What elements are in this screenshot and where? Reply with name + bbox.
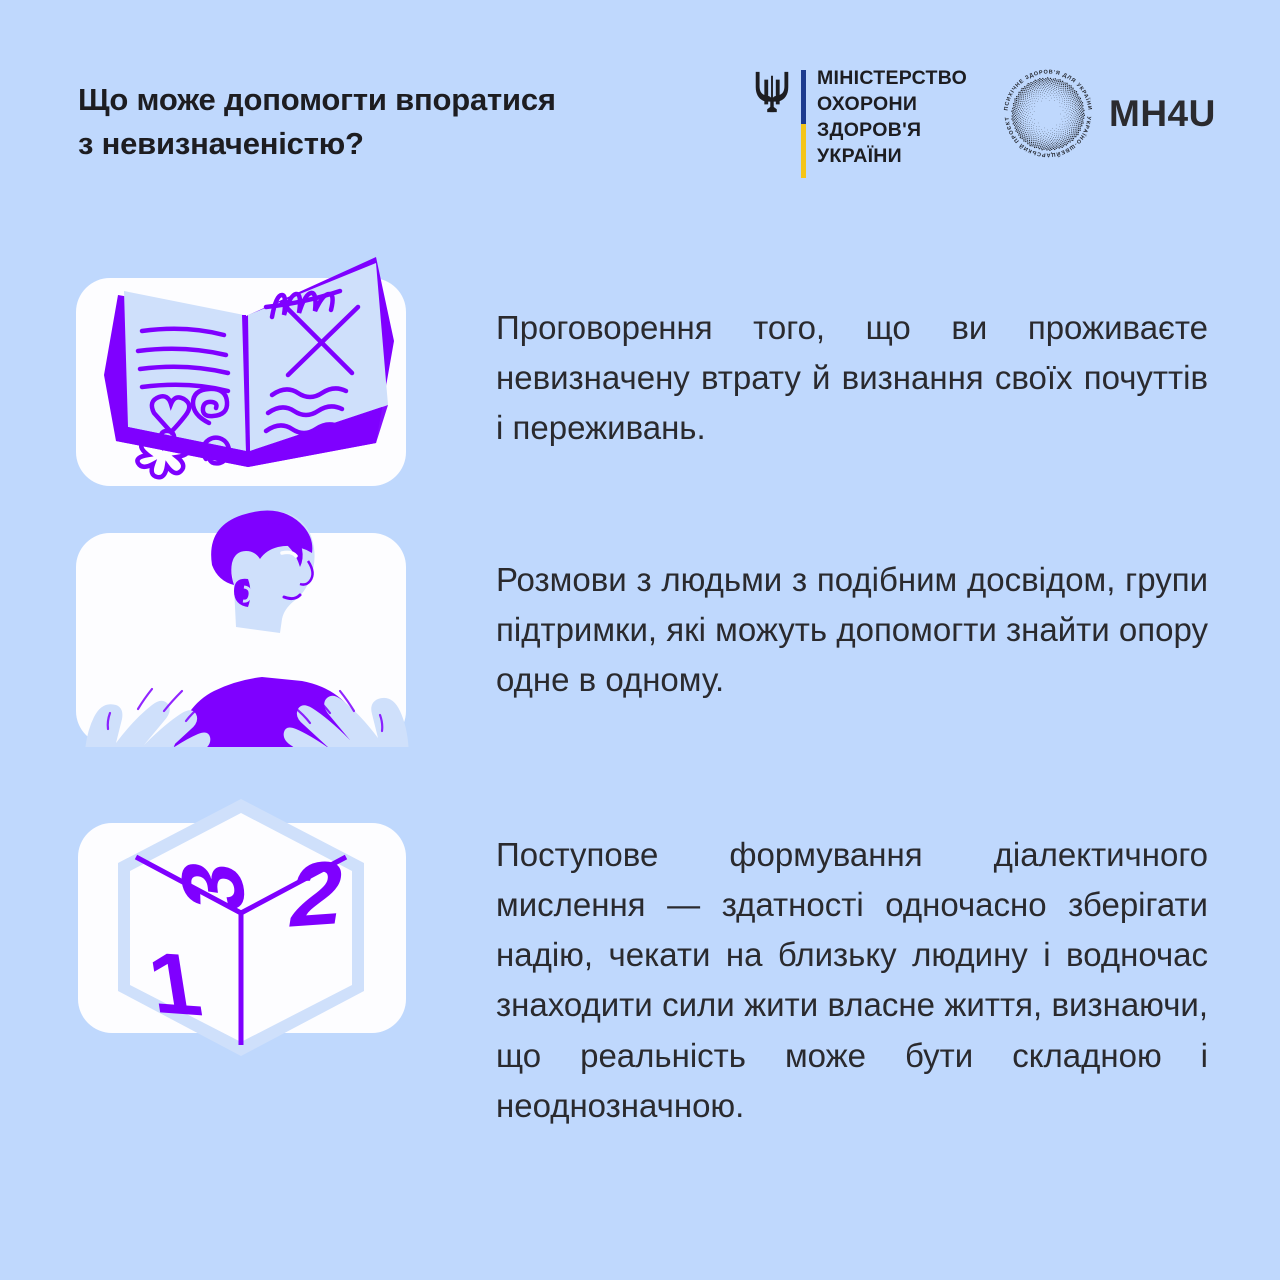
mh4u-wordmark: MH4U xyxy=(1109,93,1216,135)
item-text-2: Розмови з людьми з подібним досвідом, гр… xyxy=(496,555,1208,705)
mh4u-logo: ПСИХІЧНЕ ЗДОРОВ'Я ДЛЯ УКРАЇНИ УКРАЇНО-ШВ… xyxy=(996,62,1216,166)
illustration-supportive-hands xyxy=(76,505,406,795)
mh4u-ring-text-bottom: УКРАЇНО-ШВЕЙЦАРСЬКИЙ ПРОЄКТ xyxy=(1005,116,1092,159)
illustration-numbered-cube: 1 2 3 xyxy=(76,795,406,1055)
svg-text:УКРАЇНО-ШВЕЙЦАРСЬКИЙ ПРОЄКТ: УКРАЇНО-ШВЕЙЦАРСЬКИЙ ПРОЄКТ xyxy=(1005,116,1092,159)
ukraine-trident-icon xyxy=(752,70,792,114)
item-text-1: Проговорення того, що ви проживаєте неви… xyxy=(496,303,1208,453)
ministry-line-2: ОХОРОНИ xyxy=(817,92,967,118)
item-text-3: Поступове формування діалектичного мисле… xyxy=(496,830,1208,1131)
svg-text:ПСИХІЧНЕ ЗДОРОВ'Я ДЛЯ УКРАЇНИ: ПСИХІЧНЕ ЗДОРОВ'Я ДЛЯ УКРАЇНИ xyxy=(1004,69,1093,111)
content-row-3: 1 2 3 Поступове формування діалектичного… xyxy=(0,795,1280,1235)
page-title-line-1: Що може допомогти впоратися xyxy=(78,78,718,122)
numbered-cube-1-2-3-illustration: 1 2 3 xyxy=(76,795,406,1060)
ministry-line-4: УКРАЇНИ xyxy=(817,144,967,170)
page-title-line-2: з невизначеністю? xyxy=(78,122,718,166)
ministry-logo-text: МІНІСТЕРСТВО ОХОРОНИ ЗДОРОВ'Я УКРАЇНИ xyxy=(817,66,967,170)
content-row-2: Розмови з людьми з подібним досвідом, гр… xyxy=(0,505,1280,795)
page-title: Що може допомогти впоратися з невизначен… xyxy=(78,78,718,166)
ministry-line-3: ЗДОРОВ'Я xyxy=(817,118,967,144)
ministry-of-health-logo: МІНІСТЕРСТВО ОХОРОНИ ЗДОРОВ'Я УКРАЇНИ xyxy=(752,66,967,178)
ministry-line-1: МІНІСТЕРСТВО xyxy=(817,66,967,92)
infographic-page: Що може допомогти впоратися з невизначен… xyxy=(0,0,1280,1280)
open-notebook-with-doodles-illustration xyxy=(76,255,406,505)
content-row-1: Проговорення того, що ви проживаєте неви… xyxy=(0,255,1280,505)
mh4u-ring-text-top: ПСИХІЧНЕ ЗДОРОВ'Я ДЛЯ УКРАЇНИ xyxy=(1004,69,1093,111)
mh4u-spiral-mandala-icon: ПСИХІЧНЕ ЗДОРОВ'Я ДЛЯ УКРАЇНИ УКРАЇНО-ШВ… xyxy=(996,62,1100,166)
header: Що може допомогти впоратися з невизначен… xyxy=(0,0,1280,210)
person-with-supportive-hands-illustration xyxy=(76,505,406,795)
illustration-open-notebook xyxy=(76,255,406,505)
ukraine-flag-divider-bar xyxy=(801,70,806,178)
